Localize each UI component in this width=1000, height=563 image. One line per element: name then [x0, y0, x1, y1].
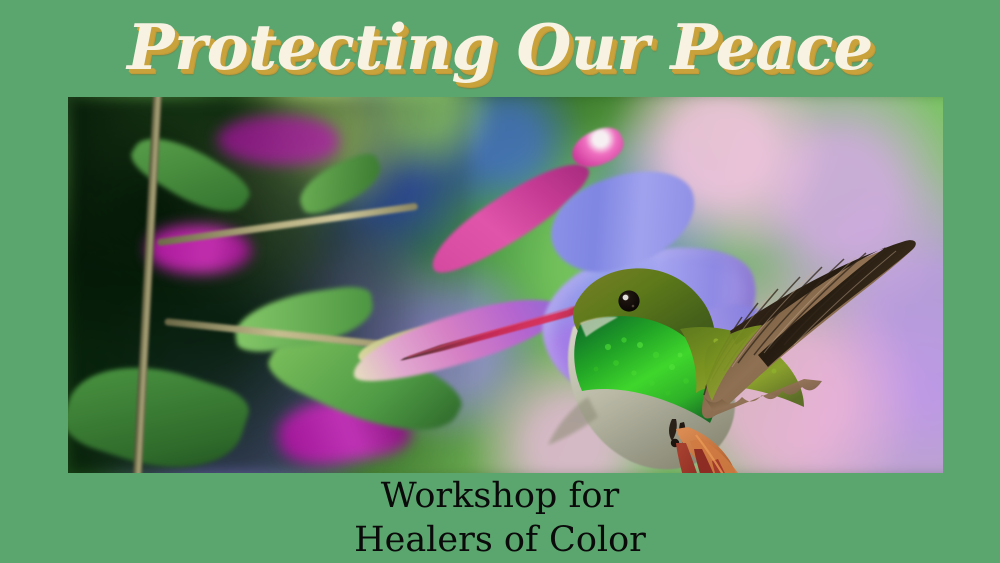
bird-bill	[400, 305, 579, 361]
slide-canvas: Protecting Our Peace	[0, 0, 1000, 563]
page-title: Protecting Our Peace	[0, 14, 1000, 80]
hummingbird	[68, 97, 943, 473]
subtitle-line-2: Healers of Color	[0, 518, 1000, 562]
bird-far-wing	[548, 397, 598, 445]
page-subtitle: Workshop for Healers of Color	[0, 474, 1000, 562]
bird-eye	[618, 290, 639, 311]
hummingbird-and-morning-glory-photo	[68, 97, 943, 473]
subtitle-line-1: Workshop for	[0, 474, 1000, 518]
bird-wing	[702, 240, 916, 418]
